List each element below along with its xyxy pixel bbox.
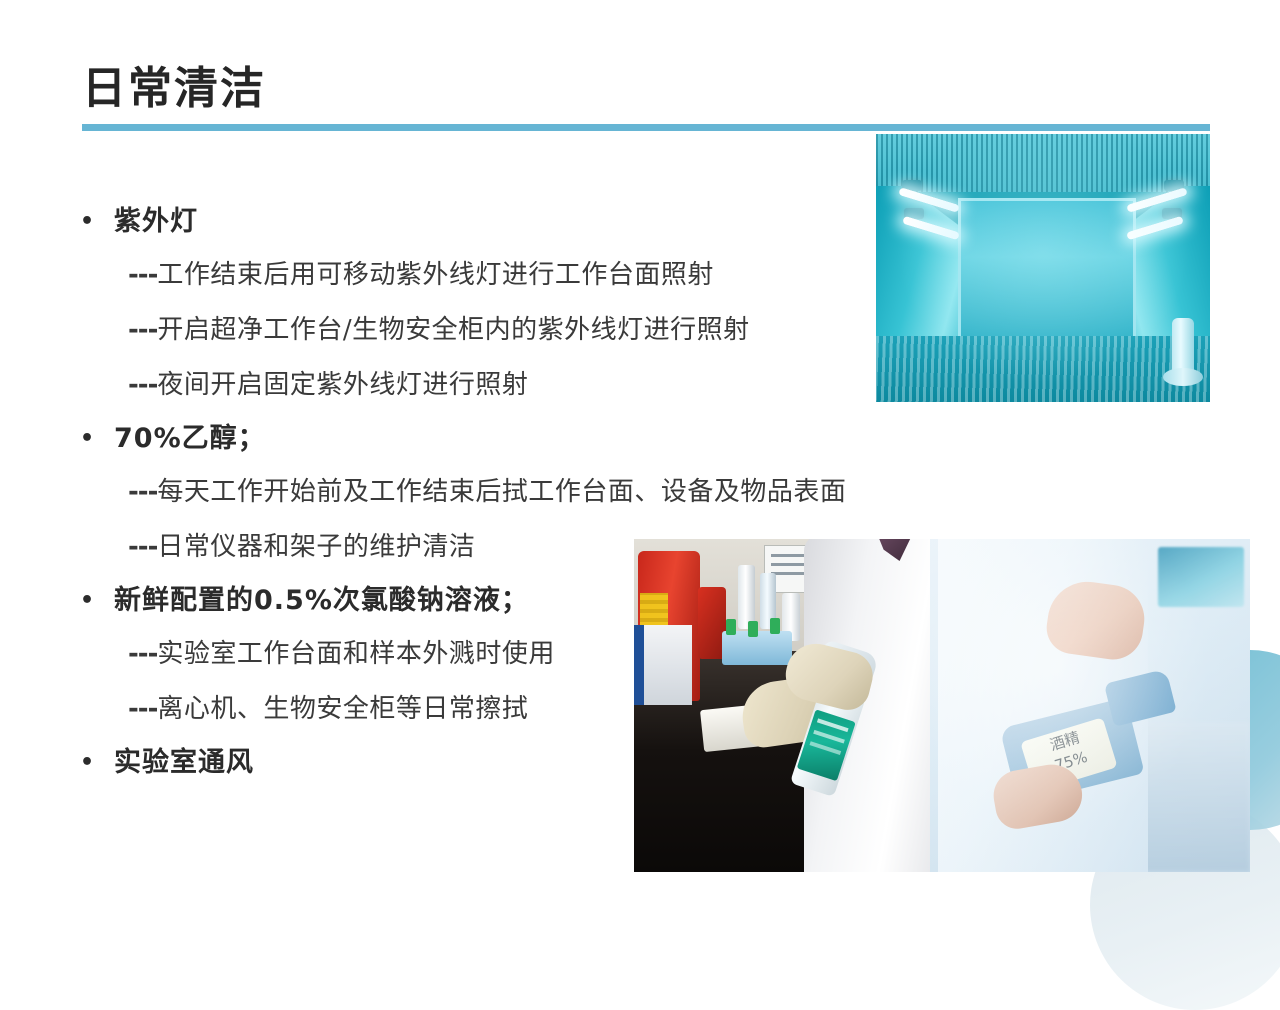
sub-item-dash: --- <box>128 694 157 724</box>
reagent-bottle <box>760 573 776 629</box>
sub-item-text: 日常仪器和架子的维护清洁 <box>157 532 475 562</box>
sub-item-text: 每天工作开始前及工作结束后拭工作台面、设备及物品表面 <box>157 477 846 507</box>
title-block: 日常清洁 <box>82 62 1210 131</box>
title-underline-rule <box>82 124 1210 131</box>
image-cleaning-pair: 酒精 75% <box>634 539 1250 872</box>
bullet-heading: 70%乙醇； <box>78 413 1008 465</box>
glove-box <box>634 625 692 705</box>
sub-item: ---夜间开启固定紫外线灯进行照射 <box>78 358 1008 413</box>
tube-rack <box>722 631 792 665</box>
page-title: 日常清洁 <box>82 62 1210 116</box>
uv-scene <box>876 134 1210 402</box>
sub-item-text: 离心机、生物安全柜等日常擦拭 <box>157 694 528 724</box>
sub-item: ---每天工作开始前及工作结束后拭工作台面、设备及物品表面 <box>78 465 1008 520</box>
sub-item-dash: --- <box>128 315 157 345</box>
uv-glow-overlay <box>876 134 1210 402</box>
sub-item-dash: --- <box>128 532 157 562</box>
sub-item-dash: --- <box>128 477 157 507</box>
image-haze-overlay <box>930 539 1250 872</box>
sub-item-dash: --- <box>128 639 157 669</box>
sub-item: ---工作结束后用可移动紫外线灯进行工作台面照射 <box>78 248 1008 303</box>
sub-item-text: 实验室工作台面和样本外溅时使用 <box>157 639 555 669</box>
image-alcohol-spray: 酒精 75% <box>930 539 1250 872</box>
sub-item-dash: --- <box>128 370 157 400</box>
bullet-heading: 紫外灯 <box>78 196 1008 248</box>
spray-bottle-label <box>797 709 856 781</box>
lab-coat-collar <box>876 539 914 561</box>
slide-canvas: 日常清洁 紫外灯 ---工作结束后用可移动紫外线灯进行工作台面照射 ---开启超… <box>0 0 1280 960</box>
image-uv-cabinet <box>876 134 1210 402</box>
sub-item: ---开启超净工作台/生物安全柜内的紫外线灯进行照射 <box>78 303 1008 358</box>
bullet-group: 紫外灯 ---工作结束后用可移动紫外线灯进行工作台面照射 ---开启超净工作台/… <box>78 196 1008 413</box>
sub-item-text: 开启超净工作台/生物安全柜内的紫外线灯进行照射 <box>157 315 749 345</box>
biohazard-label <box>640 593 668 627</box>
sub-item-text: 夜间开启固定紫外线灯进行照射 <box>157 370 528 400</box>
sub-item-text: 工作结束后用可移动紫外线灯进行工作台面照射 <box>157 260 714 290</box>
image-bench-cleaning <box>634 539 930 872</box>
sub-item-dash: --- <box>128 260 157 290</box>
reagent-bottle <box>738 565 755 629</box>
